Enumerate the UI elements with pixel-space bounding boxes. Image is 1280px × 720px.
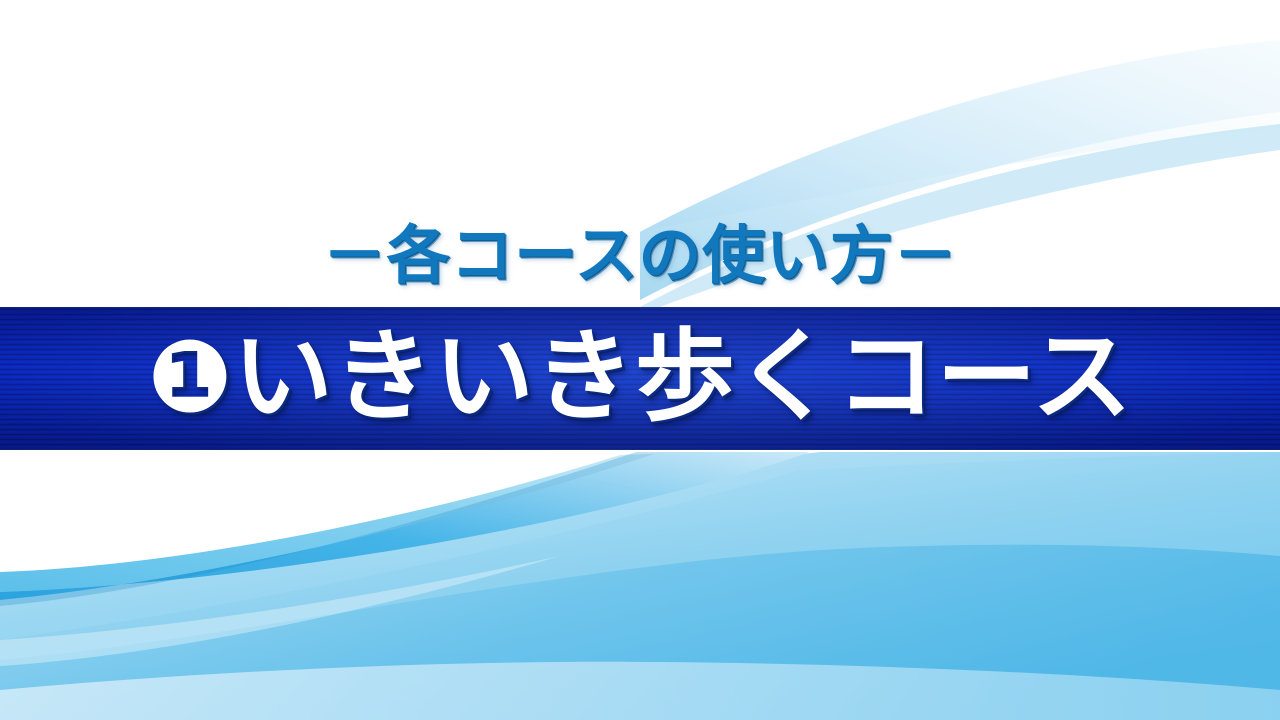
wave-bottom-pale-band (0, 662, 1280, 720)
wave-top-pale (640, 40, 1280, 232)
wave-main-body (0, 452, 1280, 720)
wave-ribbon-shadow (0, 452, 660, 606)
title-banner-inner: ❶いきいき歩くコース (0, 307, 1280, 450)
wave-ribbon (0, 452, 810, 600)
slide-title: ❶いきいき歩くコース (148, 327, 1133, 431)
wave-ribbon-highlight (0, 452, 810, 592)
wave-sheen-crest (0, 545, 1280, 720)
wave-lower-light (0, 452, 1280, 720)
wave-left-shoulder (0, 556, 560, 666)
title-banner: ❶いきいき歩くコース (0, 307, 1280, 450)
slide-canvas: －各コースの使い方－ ❶いきいき歩くコース (0, 0, 1280, 720)
slide-subtitle: －各コースの使い方－ (323, 224, 957, 287)
subtitle-row: －各コースの使い方－ (0, 212, 1280, 298)
